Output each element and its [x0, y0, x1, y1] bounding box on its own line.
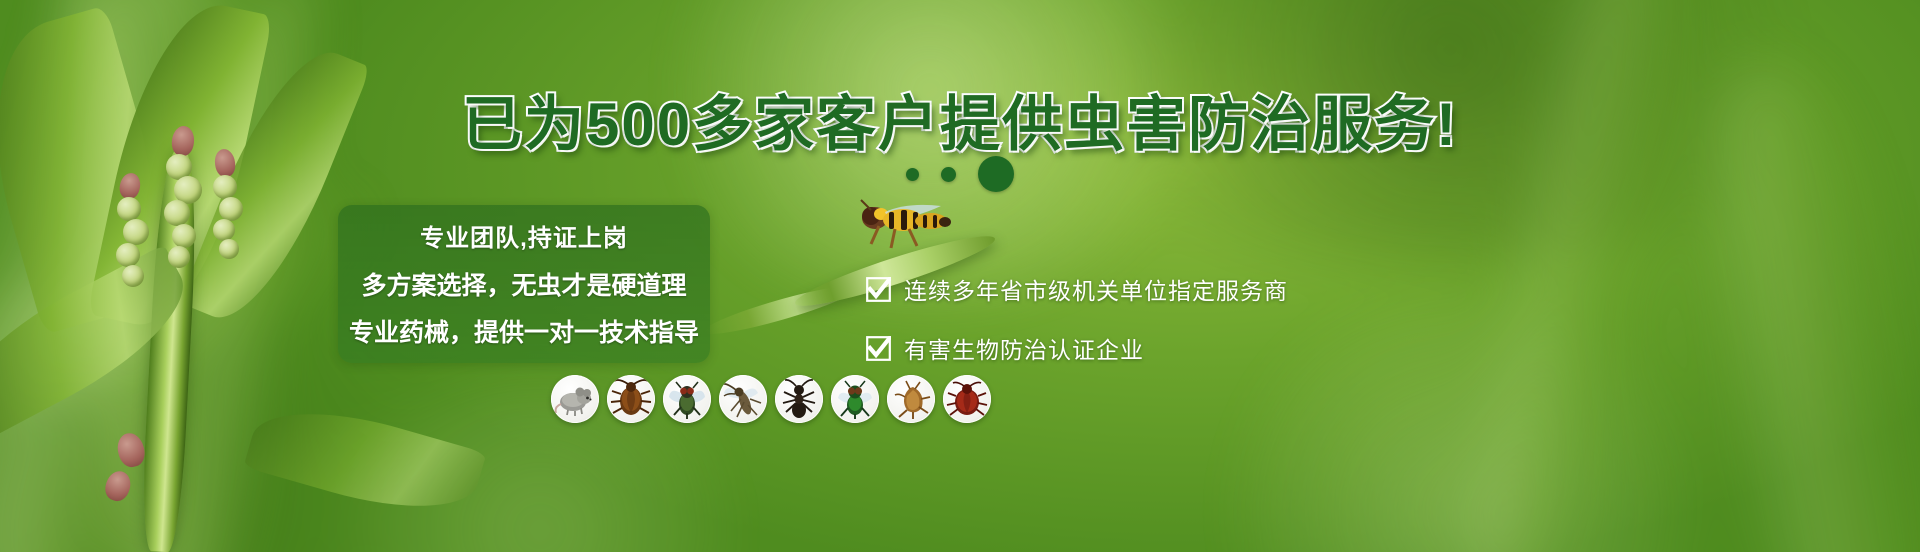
- checkbox-checked-icon: [866, 336, 891, 361]
- headline-text: 已为500多家客户提供虫害防治服务!: [462, 91, 1458, 158]
- promo-line-2: 多方案选择，无虫才是硬道理: [361, 266, 686, 302]
- dot-medium-left: [941, 167, 956, 182]
- flea-icon: [887, 375, 935, 423]
- mosquito-icon: [719, 375, 767, 423]
- cockroach-icon: [607, 375, 655, 423]
- promo-text-box: 专业团队,持证上岗 多方案选择，无虫才是硬道理 专业药械，提供一对一技术指导: [338, 205, 710, 363]
- pest-icon-row: [551, 375, 991, 423]
- page-title: 已为500多家客户提供虫害防治服务!: [0, 76, 1920, 163]
- rat-icon: [551, 375, 599, 423]
- decorative-dots-divider: [0, 156, 1920, 192]
- dot-small-left: [906, 168, 919, 181]
- dot-large-center: [978, 156, 1014, 192]
- list-item: 连续多年省市级机关单位指定服务商: [866, 272, 1288, 306]
- leaf-shape: [243, 390, 486, 530]
- pest-control-hero-banner: 已为500多家客户提供虫害防治服务! 专业团队,持证上岗 多方案选择，无虫才是硬…: [0, 0, 1920, 552]
- hoverfly-icon: [845, 196, 965, 250]
- housefly-icon: [663, 375, 711, 423]
- list-item: 有害生物防治认证企业: [866, 331, 1288, 365]
- blowfly-icon: [831, 375, 879, 423]
- promo-line-1: 专业团队,持证上岗: [420, 218, 628, 253]
- checkbox-checked-icon: [866, 277, 891, 302]
- bedbug-icon: [943, 375, 991, 423]
- list-item-label: 连续多年省市级机关单位指定服务商: [904, 272, 1288, 306]
- promo-line-3: 专业药械，提供一对一技术指导: [349, 313, 699, 349]
- ant-icon: [775, 375, 823, 423]
- list-item-label: 有害生物防治认证企业: [904, 331, 1144, 365]
- credentials-checklist: 连续多年省市级机关单位指定服务商 有害生物防治认证企业: [866, 272, 1288, 365]
